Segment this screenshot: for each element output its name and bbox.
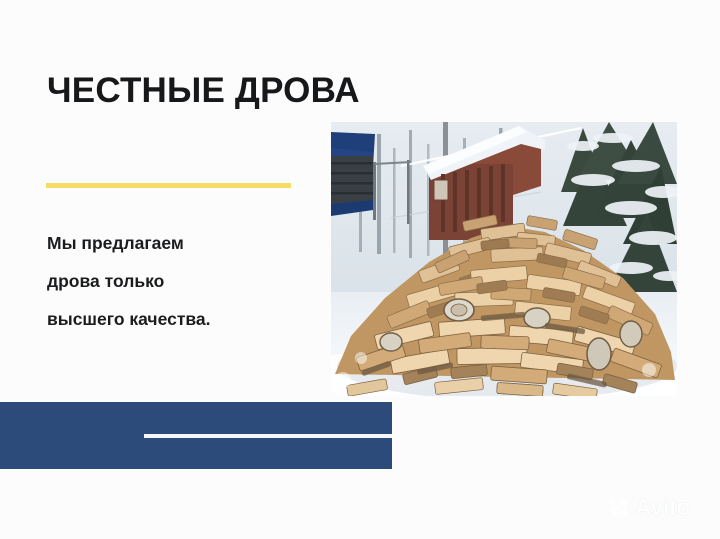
firewood-photo-illustration bbox=[331, 122, 677, 396]
body-line-1: Мы предлагаем bbox=[47, 224, 312, 262]
avito-watermark: Avito bbox=[608, 496, 690, 519]
page-title: ЧЕСТНЫЕ ДРОВА bbox=[47, 73, 360, 110]
yellow-divider-rule bbox=[46, 183, 291, 188]
body-line-2: дрова только bbox=[47, 262, 312, 300]
firewood-photo bbox=[331, 122, 677, 396]
avito-dots-icon bbox=[608, 497, 630, 519]
footer-bar-accent-line bbox=[144, 434, 392, 438]
blue-tarp bbox=[331, 132, 375, 216]
slide-canvas: ЧЕСТНЫЕ ДРОВА Мы предлагаем дрова только… bbox=[0, 0, 720, 539]
body-line-3: высшего качества. bbox=[47, 300, 312, 338]
footer-bar bbox=[0, 402, 392, 469]
body-copy: Мы предлагаем дрова только высшего качес… bbox=[47, 224, 312, 338]
avito-wordmark: Avito bbox=[635, 496, 690, 519]
